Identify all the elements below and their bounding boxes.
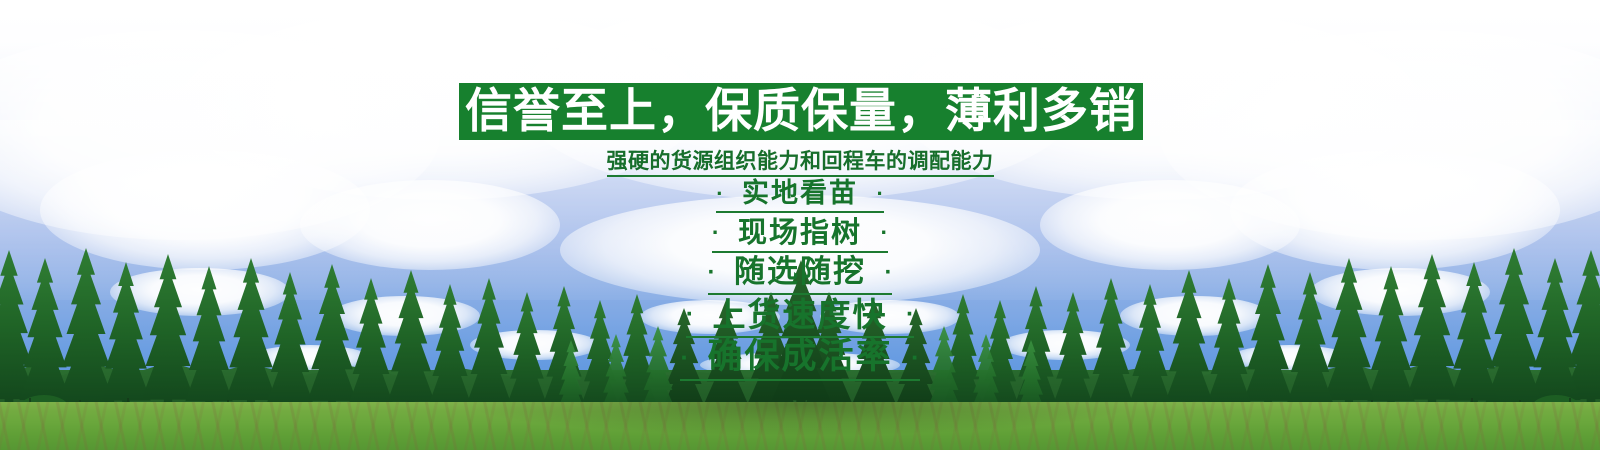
bullet-dot-right-icon: · — [876, 183, 883, 205]
feature-item-label: 随选随挖 — [734, 256, 866, 289]
promotional-banner: 信誉至上，保质保量，薄利多销 强硬的货源组织能力和回程车的调配能力 · 实地看苗… — [0, 0, 1600, 450]
bullet-dot-left-icon: · — [686, 302, 694, 327]
bullet-dot-right-icon: · — [884, 261, 892, 285]
bullet-dot-left-icon: · — [708, 261, 716, 285]
feature-item-inner: · 确保成活率 · — [680, 339, 919, 382]
headline-text: 信誉至上，保质保量，薄利多销 — [465, 88, 1137, 135]
feature-item-inner: · 随选随挖 · — [708, 256, 893, 294]
bullet-dot-left-icon: · — [716, 183, 723, 205]
subtitle-text: 强硬的货源组织能力和回程车的调配能力 — [607, 148, 994, 177]
feature-item: · 上货速度快 · — [0, 297, 1600, 338]
bullet-dot-right-icon: · — [911, 344, 920, 370]
banner-text-content: 信誉至上，保质保量，薄利多销 强硬的货源组织能力和回程车的调配能力 · 实地看苗… — [0, 0, 1600, 450]
feature-item-inner: · 上货速度快 · — [686, 297, 915, 338]
bullet-dot-left-icon: · — [680, 344, 689, 370]
headline-banner: 信誉至上，保质保量，薄利多销 — [459, 83, 1143, 140]
feature-list: · 实地看苗 · · 现场指树 · · 随选随挖 · — [0, 179, 1600, 381]
feature-item: · 随选随挖 · — [0, 256, 1600, 294]
bullet-dot-left-icon: · — [712, 221, 720, 244]
bullet-dot-right-icon: · — [906, 302, 914, 327]
feature-item-label: 实地看苗 — [742, 179, 858, 208]
bullet-dot-right-icon: · — [880, 221, 888, 244]
feature-item-label: 上货速度快 — [713, 297, 888, 333]
feature-item: · 现场指树 · — [0, 217, 1600, 253]
feature-item-inner: · 实地看苗 · — [716, 179, 884, 213]
feature-item-label: 现场指树 — [738, 217, 862, 248]
feature-item: · 实地看苗 · — [0, 179, 1600, 213]
subtitle-row: 强硬的货源组织能力和回程车的调配能力 — [0, 148, 1600, 177]
feature-item-inner: · 现场指树 · — [712, 217, 888, 253]
feature-item-label: 确保成活率 — [707, 339, 892, 377]
feature-item: · 确保成活率 · — [0, 339, 1600, 382]
